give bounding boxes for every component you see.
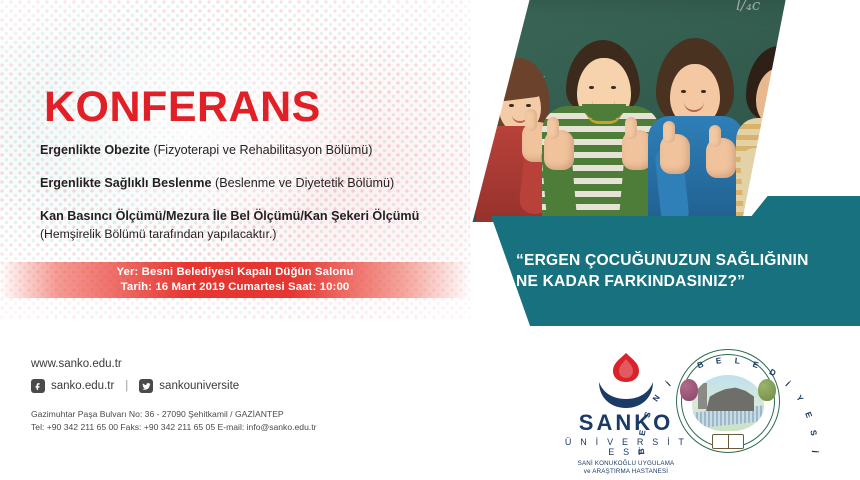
quote-line-1: “ERGEN ÇOCUĞUNUZUN SAĞLIĞININ — [516, 250, 809, 271]
thumb — [547, 117, 559, 139]
thumb — [625, 117, 637, 139]
seal-arc-letter: L — [734, 355, 740, 365]
facebook-icon[interactable] — [31, 379, 45, 393]
hospital-line-1: SANİ KONUKOĞLU UYGULAMA — [558, 460, 694, 468]
topic-item: Ergenlikte Obezite (Fizyoterapi ve Rehab… — [40, 142, 460, 159]
seal-arc-letter: E — [752, 359, 760, 370]
website-url[interactable]: www.sanko.edu.tr — [31, 358, 122, 370]
twitter-icon[interactable] — [139, 379, 153, 393]
seal-arc-letter: S — [808, 429, 819, 436]
smile — [684, 102, 704, 112]
besni-belediyesi-seal: BESNİ BELEDİYESİ — [676, 349, 780, 453]
topic-subline: (Hemşirelik Bölümü tarafından yapılacakt… — [40, 226, 460, 242]
address-line-1: Gazimuhtar Paşa Bulvarı No: 36 - 27090 Ş… — [31, 408, 317, 421]
quote-text: “ERGEN ÇOCUĞUNUZUN SAĞLIĞININ NE KADAR F… — [470, 250, 825, 292]
topic-item: Kan Basıncı Ölçümü/Mezura İle Bel Ölçümü… — [40, 208, 460, 242]
eye — [526, 104, 531, 107]
thumbs-up-hand — [660, 134, 690, 174]
venue-place: Yer: Besni Belediyesi Kapalı Düğün Salon… — [116, 265, 353, 280]
address-block: Gazimuhtar Paşa Bulvarı No: 36 - 27090 Ş… — [31, 408, 317, 435]
page-title: KONFERANS — [44, 86, 321, 129]
twitter-label[interactable]: sankouniversite — [159, 380, 239, 392]
venue-date: Tarih: 16 Mart 2019 Cumartesi Saat: 10:0… — [121, 280, 350, 295]
quote-line-2: NE KADAR FARKINDASINIZ?” — [516, 271, 809, 292]
flame-crescent-icon — [595, 352, 657, 410]
eye — [611, 86, 616, 89]
sanko-hospital-lines: SANİ KONUKOĞLU UYGULAMA ve ARAŞTIRMA HAS… — [558, 460, 694, 477]
thumb — [709, 125, 721, 147]
eye — [509, 104, 514, 107]
eye — [681, 90, 686, 93]
sanko-name: SANKO — [558, 412, 694, 434]
seal-arc-letter: B — [636, 448, 646, 455]
venue-banner: Yer: Besni Belediyesi Kapalı Düğün Salon… — [0, 262, 470, 298]
hospital-line-2: ve ARAŞTIRMA HASTANESİ — [558, 468, 694, 476]
thumb — [663, 121, 675, 143]
topic-department: (Beslenme ve Diyetetik Bölümü) — [212, 176, 395, 190]
sanko-logo: SANKO Ü N İ V E R S İ T E S İ SANİ KONUK… — [558, 352, 694, 477]
eye — [589, 86, 594, 89]
topic-department: (Fizyoterapi ve Rehabilitasyon Bölümü) — [150, 143, 373, 157]
topic-item: Ergenlikte Sağlıklı Beslenme (Beslenme v… — [40, 175, 460, 192]
seal-arc-letter: Y — [794, 393, 805, 403]
eye — [701, 90, 706, 93]
topic-list: Ergenlikte Obezite (Fizyoterapi ve Rehab… — [40, 142, 460, 258]
teal-corner-accent — [750, 196, 860, 218]
seal-arc-letter: İ — [783, 379, 792, 388]
topic-title: Kan Basıncı Ölçümü/Mezura İle Bel Ölçümü… — [40, 209, 419, 223]
seal-arc-letter: B — [696, 359, 705, 370]
chalk-formula: l/₄c — [736, 0, 760, 14]
topic-title: Ergenlikte Sağlıklı Beslenme — [40, 176, 212, 190]
seal-arc-letter: D — [768, 367, 778, 379]
seal-arc-letter: E — [715, 355, 722, 366]
social-divider: | — [125, 380, 128, 392]
thumbs-up-hand — [706, 138, 736, 178]
facebook-label[interactable]: sanko.edu.tr — [51, 380, 114, 392]
poster-root: KONFERANS Ergenlikte Obezite (Fizyoterap… — [0, 0, 860, 480]
sanko-emblem — [558, 352, 694, 410]
thumb — [525, 109, 537, 131]
thumbs-up-hand — [544, 130, 574, 170]
social-links: sanko.edu.tr | sankouniversite — [31, 379, 239, 393]
address-line-2: Tel: +90 342 211 65 00 Faks: +90 342 211… — [31, 421, 317, 434]
seal-arc-text: BESNİ BELEDİYESİ — [676, 349, 780, 453]
seal-arc-letter: E — [803, 410, 814, 419]
topic-title: Ergenlikte Obezite — [40, 143, 150, 157]
quote-banner: “ERGEN ÇOCUĞUNUZUN SAĞLIĞININ NE KADAR F… — [470, 216, 860, 326]
sanko-subtitle: Ü N İ V E R S İ T E S İ — [558, 437, 694, 457]
seal-arc-letter: İ — [810, 450, 820, 453]
